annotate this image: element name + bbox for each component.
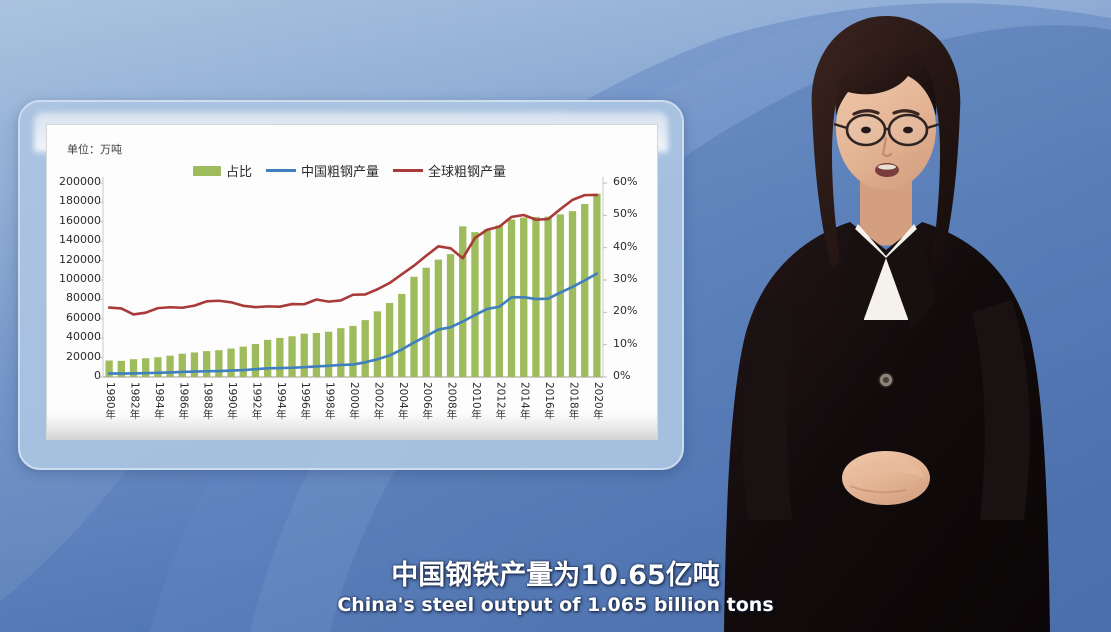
chart-sheet: 单位：万吨 占比 中国粗钢产量 全球粗钢产量 02000040000600008… — [46, 124, 658, 440]
x-tick-label: 1986年 — [176, 382, 191, 419]
x-tick-label: 2006年 — [420, 382, 435, 419]
x-tick-label: 2014年 — [518, 382, 533, 419]
x-tick-label: 1998年 — [323, 382, 338, 419]
x-tick-label: 2018年 — [567, 382, 582, 419]
x-tick-label: 1992年 — [249, 382, 264, 419]
x-tick-label: 1984年 — [152, 382, 167, 419]
video-frame: 单位：万吨 占比 中国粗钢产量 全球粗钢产量 02000040000600008… — [0, 0, 1111, 632]
x-tick-label: 2002年 — [371, 382, 386, 419]
x-tick-label: 2016年 — [542, 382, 557, 419]
x-tick-label: 2000年 — [347, 382, 362, 419]
presenter-figure — [700, 0, 1111, 632]
x-tick-label: 1980年 — [103, 382, 118, 419]
x-tick-label: 2010年 — [469, 382, 484, 419]
x-tick-label: 2012年 — [493, 382, 508, 419]
x-tick-label: 2008年 — [445, 382, 460, 419]
x-axis-labels: 1980年1982年1984年1986年1988年1990年1992年1994年… — [47, 125, 658, 440]
x-tick-label: 1996年 — [298, 382, 313, 419]
x-tick-label: 1990年 — [225, 382, 240, 419]
x-tick-label: 1994年 — [274, 382, 289, 419]
x-tick-label: 2004年 — [396, 382, 411, 419]
x-tick-label: 1982年 — [127, 382, 142, 419]
x-tick-label: 2020年 — [591, 382, 606, 419]
x-tick-label: 1988年 — [201, 382, 216, 419]
